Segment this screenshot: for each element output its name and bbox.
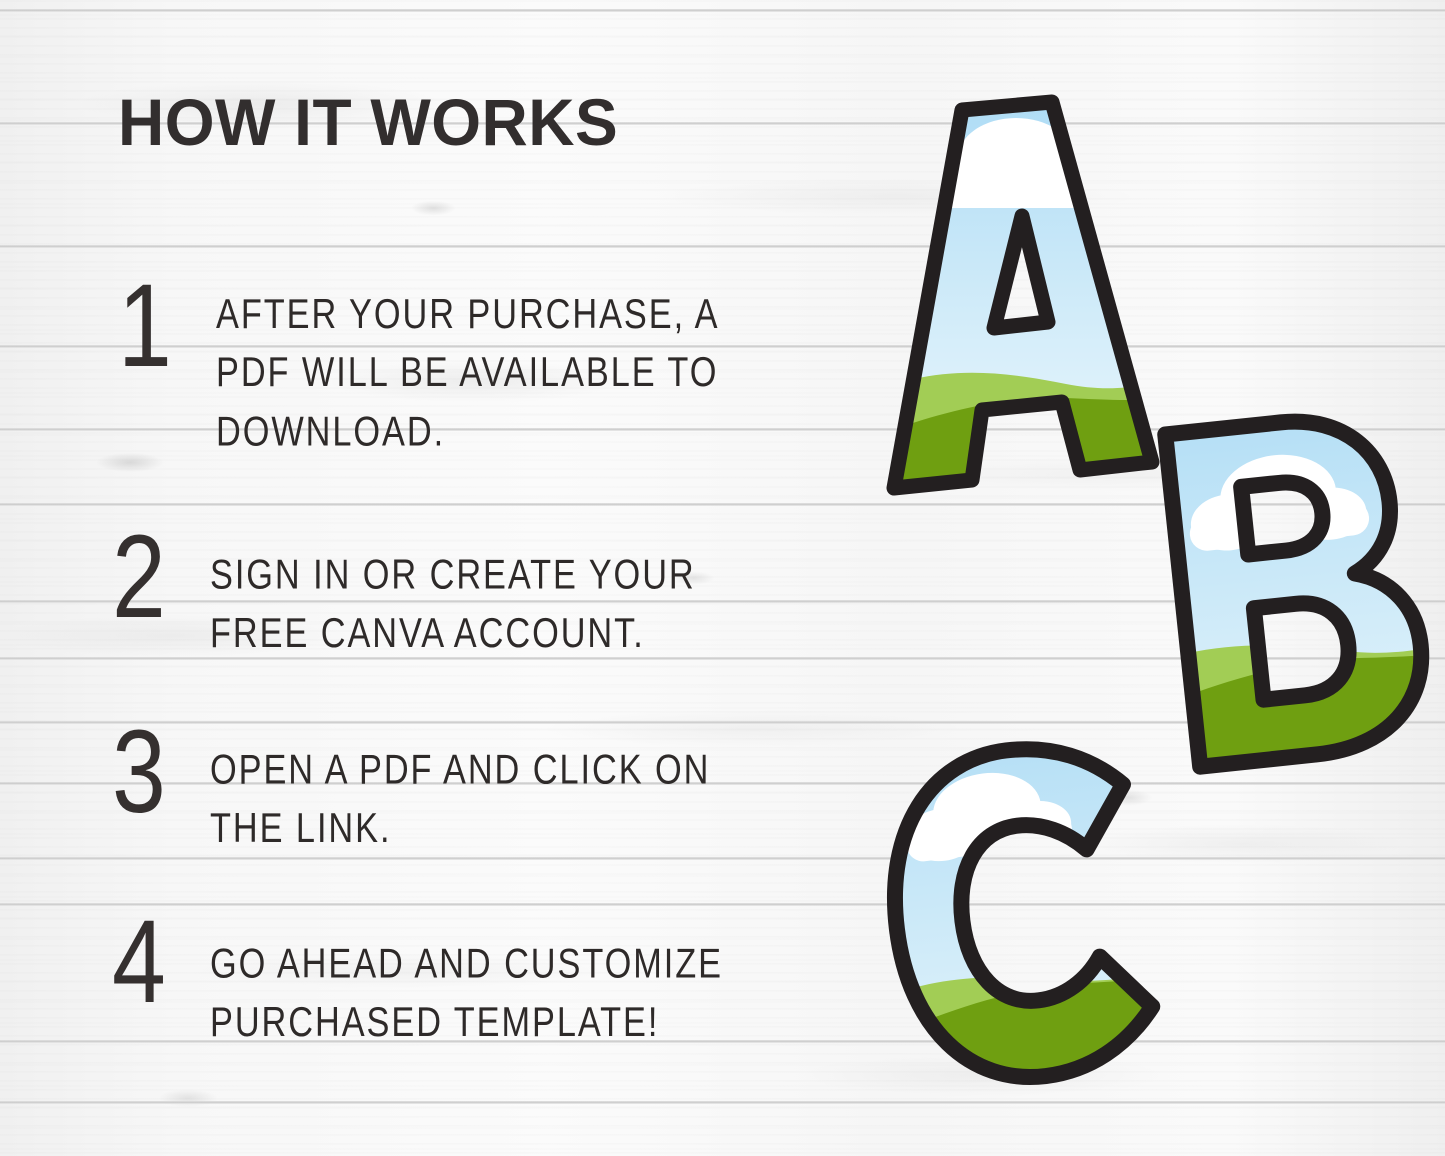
step-text: AFTER YOUR PURCHASE, A PDF WILL BE AVAIL… xyxy=(216,276,719,462)
step-text: GO AHEAD AND CUSTOMIZE PURCHASED TEMPLAT… xyxy=(210,912,723,1053)
step-number: 4 xyxy=(112,912,192,1013)
page-title: HOW IT WORKS xyxy=(118,84,618,160)
step-number: 3 xyxy=(112,722,192,823)
poster-canvas: HOW IT WORKS 1 AFTER YOUR PURCHASE, A PD… xyxy=(0,0,1445,1156)
step-number: 2 xyxy=(112,527,192,628)
decorative-letter-a xyxy=(866,96,1166,496)
plank-seam xyxy=(0,903,1445,906)
step-text: OPEN A PDF AND CLICK ON THE LINK. xyxy=(210,722,710,858)
list-item: 1 AFTER YOUR PURCHASE, A PDF WILL BE AVA… xyxy=(118,276,788,451)
step-number: 1 xyxy=(118,276,198,377)
plank-seam xyxy=(0,1101,1445,1104)
list-item: 2 SIGN IN OR CREATE YOUR FREE CANVA ACCO… xyxy=(112,527,762,656)
decorative-letter-c xyxy=(888,728,1170,1120)
list-item: 4 GO AHEAD AND CUSTOMIZE PURCHASED TEMPL… xyxy=(112,912,793,1045)
plank-seam xyxy=(0,9,1445,12)
list-item: 3 OPEN A PDF AND CLICK ON THE LINK. xyxy=(112,722,779,851)
plank-seam xyxy=(0,245,1445,248)
decorative-letter-b xyxy=(1148,408,1400,808)
step-text: SIGN IN OR CREATE YOUR FREE CANVA ACCOUN… xyxy=(210,527,696,663)
